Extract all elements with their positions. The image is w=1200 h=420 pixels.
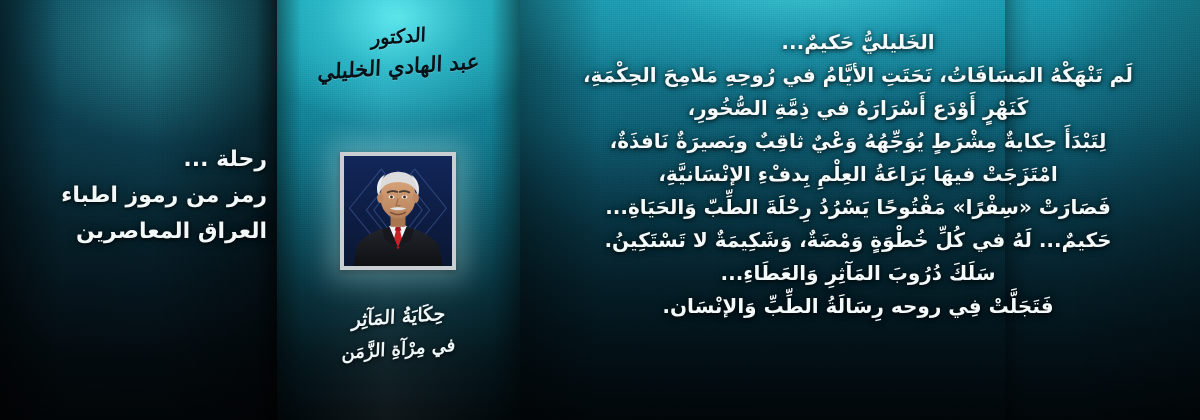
- poem-line-1: الخَليليُّ حَكيمٌ...: [534, 26, 1182, 59]
- right-panel: الخَليليُّ حَكيمٌ... لَم تَنْهَكْهُ المَ…: [520, 0, 1200, 420]
- poem-line-5: امْتَزَجَتْ فيهَا بَرَاعَةُ العِلْمِ بِد…: [534, 158, 1182, 191]
- portrait-photo: [344, 156, 452, 266]
- left-panel: رحلة ... رمز من رموز اطباء العراق المعاص…: [0, 0, 277, 420]
- poem-line-2: لَم تَنْهَكْهُ المَسَافَاتُ، نَحَتَتِ ال…: [534, 59, 1182, 92]
- portrait-frame: [340, 152, 456, 270]
- poem-line-6: فَصَارَتْ «سِفْرًا» مَفْتُوحًا يَسْرُدُ …: [534, 191, 1182, 224]
- poster-subtitle-block: حِكَايَةُ المَآثِر في مِرْآةِ الزَّمَن: [277, 302, 520, 364]
- left-caption-line-3: العراق المعاصرين: [18, 214, 267, 250]
- left-caption-line-2: رمز من رموز اطباء: [18, 178, 267, 214]
- poem-block: الخَليليُّ حَكيمٌ... لَم تَنْهَكْهُ المَ…: [534, 26, 1182, 323]
- poem-line-8: سَلَكَ دُرُوبَ المَآثِرِ وَالعَطَاءِ...: [534, 257, 1182, 290]
- poem-line-9: فَتَجَلَّتْ فِي روحه رِسَالَةُ الطِّبِّ …: [534, 290, 1182, 323]
- left-caption-line-1: رحلة ...: [18, 142, 267, 178]
- poem-line-3: كَنَهْرٍ أَوْدَع أَسْرَارَهُ في ذِمَّةِ …: [534, 92, 1182, 125]
- poem-line-7: حَكيمٌ... لَهُ في كُلِّ خُطْوَةٍ وَمْضَة…: [534, 224, 1182, 257]
- tribute-poster: رحلة ... رمز من رموز اطباء العراق المعاص…: [0, 0, 1200, 420]
- poem-line-4: لِتَبْدَأَ حِكايةٌ مِشْرَطٍ يُوَجِّهُهُ …: [534, 125, 1182, 158]
- poster-title-block: الدكتور عبد الهادي الخليلي: [277, 24, 520, 82]
- left-caption-block: رحلة ... رمز من رموز اطباء العراق المعاص…: [18, 142, 267, 250]
